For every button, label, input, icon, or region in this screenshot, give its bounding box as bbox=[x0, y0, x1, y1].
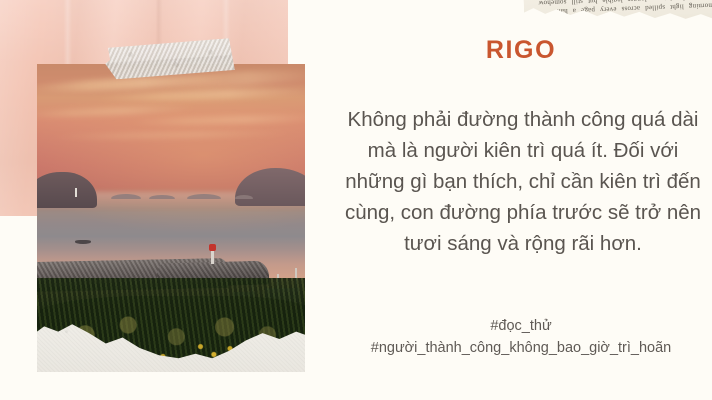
shore-marker-icon bbox=[75, 188, 77, 197]
photo-sunset-coast bbox=[37, 64, 305, 372]
cloud-streak-icon bbox=[37, 104, 197, 119]
islet bbox=[187, 194, 221, 199]
hashtag-line-2: #người_thành_công_không_bao_giờ_trì_hoãn bbox=[336, 337, 706, 359]
headland-right bbox=[235, 168, 305, 206]
islet bbox=[111, 194, 141, 199]
photo-image bbox=[37, 64, 305, 372]
cloud-streak-icon bbox=[127, 113, 305, 126]
islet bbox=[235, 195, 253, 199]
quote-text: Không phải đường thành công quá dài mà l… bbox=[344, 104, 702, 259]
boat-icon bbox=[75, 240, 91, 244]
text-column: RIGO Không phải đường thành công quá dài… bbox=[330, 0, 712, 400]
cloud-streak-icon bbox=[47, 130, 297, 140]
brand-title: RIGO bbox=[330, 36, 712, 65]
hashtag-line-1: #đọc_thử bbox=[336, 315, 706, 337]
poster-canvas: the quiet morning light spilled across e… bbox=[0, 0, 712, 400]
islet bbox=[149, 195, 175, 199]
red-beacon-icon bbox=[209, 244, 216, 251]
hashtag-block: #đọc_thử #người_thành_công_không_bao_giờ… bbox=[336, 315, 706, 359]
headland-left bbox=[37, 172, 97, 208]
